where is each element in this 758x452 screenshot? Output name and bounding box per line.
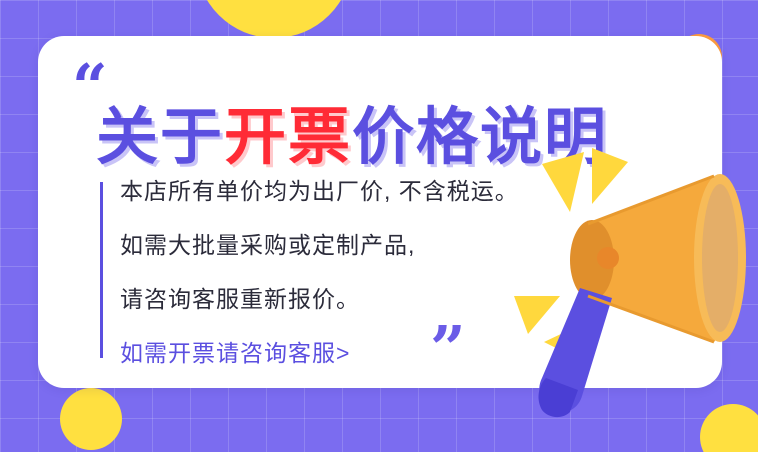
- contact-service-link[interactable]: 如需开票请咨询客服>: [120, 342, 550, 365]
- body-line-2: 如需大批量采购或定制产品,: [120, 234, 550, 257]
- vertical-divider: [100, 182, 103, 358]
- body-line-1: 本店所有单价均为出厂价, 不含税运。: [120, 180, 550, 203]
- body-line-3: 请咨询客服重新报价。: [120, 288, 550, 311]
- decorative-circle-bottom-left: [60, 388, 122, 450]
- megaphone-icon: [488, 146, 758, 426]
- body-text-block: 本店所有单价均为出厂价, 不含税运。 如需大批量采购或定制产品, 请咨询客服重新…: [120, 180, 550, 365]
- title-segment-2: 开票: [224, 86, 352, 176]
- quote-close-icon: ”: [430, 318, 466, 380]
- title-segment-1: 关于: [96, 86, 224, 176]
- promo-banner: “ 关于开票价格说明 本店所有单价均为出厂价, 不含税运。 如需大批量采购或定制…: [0, 0, 758, 452]
